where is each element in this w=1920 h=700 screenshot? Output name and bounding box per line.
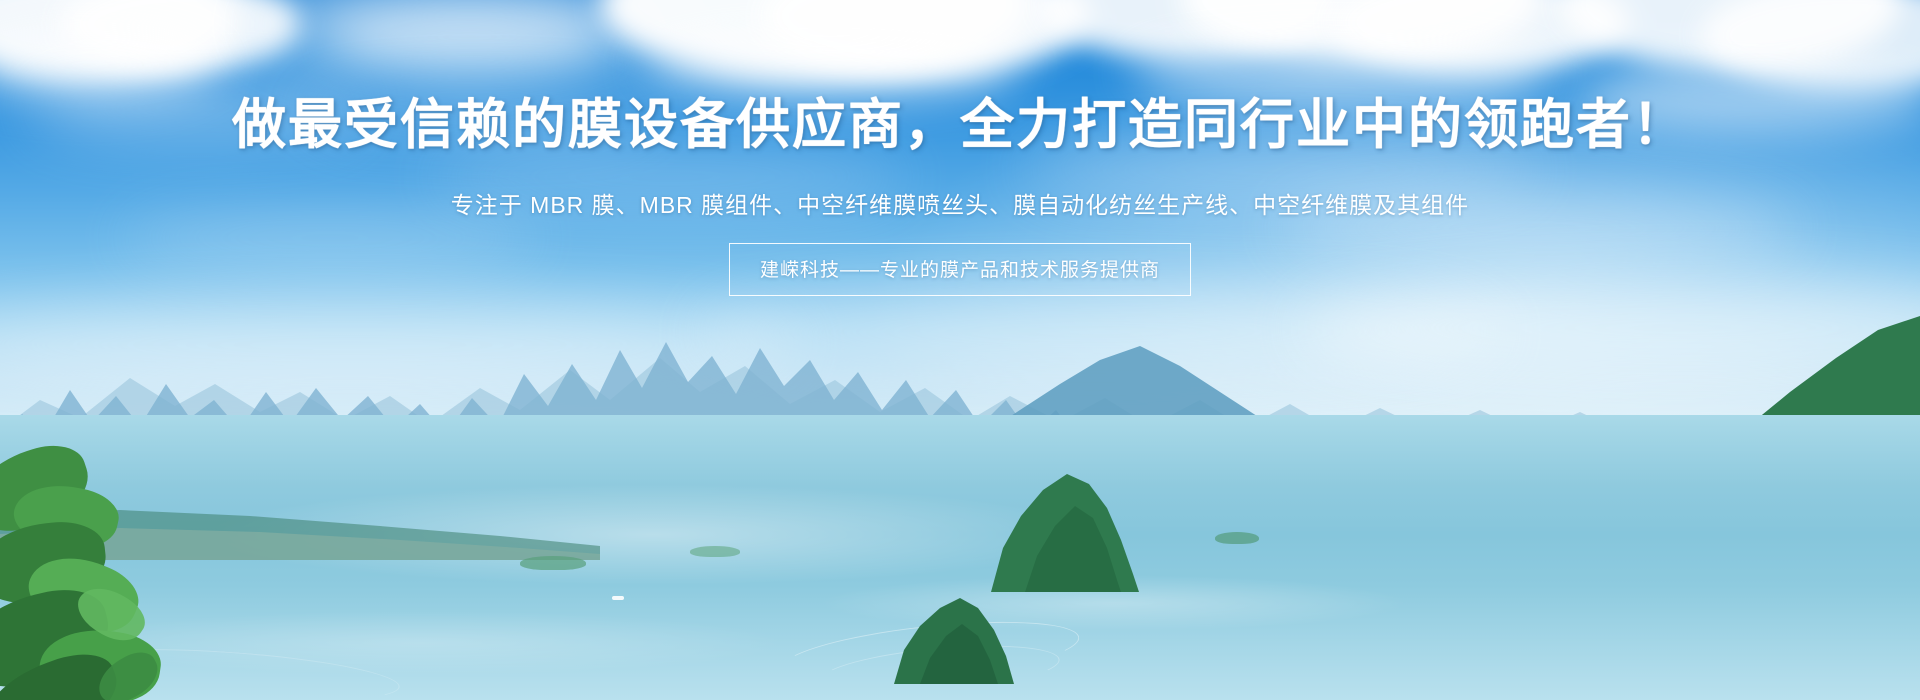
banner-headline: 做最受信赖的膜设备供应商，全力打造同行业中的领跑者！ xyxy=(0,96,1920,154)
hero-banner: 做最受信赖的膜设备供应商，全力打造同行业中的领跑者！ 专注于 MBR 膜、MBR… xyxy=(0,0,1920,700)
banner-tagline: 建嵘科技——专业的膜产品和技术服务提供商 xyxy=(729,243,1191,296)
text-overlay: 做最受信赖的膜设备供应商，全力打造同行业中的领跑者！ 专注于 MBR 膜、MBR… xyxy=(0,0,1920,700)
banner-subtitle: 专注于 MBR 膜、MBR 膜组件、中空纤维膜喷丝头、膜自动化纺丝生产线、中空纤… xyxy=(0,186,1920,220)
tagline-container: 建嵘科技——专业的膜产品和技术服务提供商 xyxy=(0,243,1920,296)
